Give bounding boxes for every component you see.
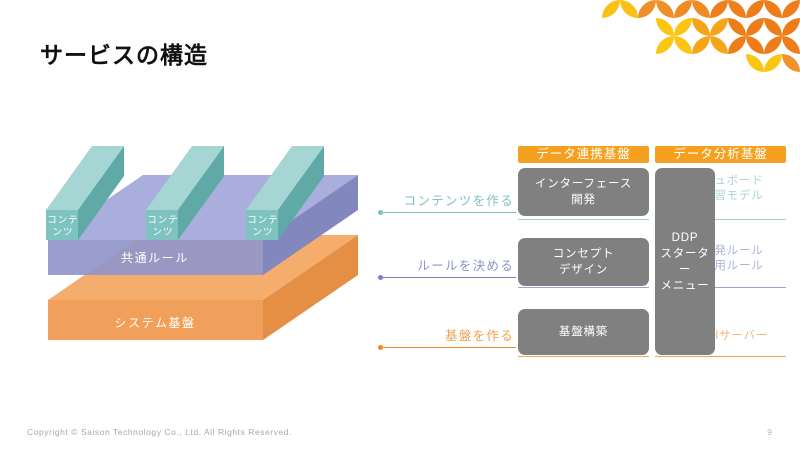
svg-text:ンツ: ンツ <box>52 227 73 238</box>
overlay-card-0-1[interactable]: コンセプト デザイン <box>518 238 649 286</box>
step-rule-0 <box>378 212 516 213</box>
overlay-card-0-0-line-0: インターフェース <box>535 176 632 192</box>
block-label-system-base: システム基盤 <box>114 316 195 330</box>
page-number: 9 <box>767 427 772 437</box>
svg-text:ンツ: ンツ <box>252 227 273 238</box>
step-dot-2 <box>378 345 383 350</box>
bg-rule-1-2 <box>655 356 786 357</box>
overlay-card-1-0-line-0: DDP <box>655 230 715 246</box>
stack-svg: コンテ ンツ コンテ ンツ コンテ ンツ 共通ルール システム基盤 <box>28 140 378 395</box>
column-header-0: データ連携基盤 <box>518 146 649 163</box>
step-dot-1 <box>378 275 383 280</box>
overlay-card-0-0-line-1: 開発 <box>535 192 632 208</box>
step-label-0: コンテンツを作る <box>378 190 516 212</box>
quatrefoil-pattern-decoration <box>560 0 800 72</box>
step-label-2: 基盤を作る <box>378 325 516 347</box>
column-data-integration-platform: データ連携基盤 インターフェース REST API 標準データモデル 基盤利用ル… <box>518 146 649 366</box>
column-body-0: インターフェース REST API 標準データモデル 基盤利用ルール ETL/M… <box>518 166 649 366</box>
overlay-card-0-1-line-0: コンセプト <box>553 246 615 262</box>
slide-canvas: サービスの構造 <box>0 0 800 450</box>
step-label-1: ルールを決める <box>378 255 516 277</box>
overlay-card-1-0[interactable]: DDP スターター メニュー <box>655 168 715 355</box>
overlay-card-1-0-line-1: スターター <box>655 246 715 278</box>
step-connector-decide-rules: ルールを決める <box>378 255 516 278</box>
step-line-2 <box>378 347 516 348</box>
block-label-content-2: コンテ <box>147 215 179 226</box>
step-line-0 <box>378 212 516 213</box>
column-header-1: データ分析基盤 <box>655 146 786 163</box>
column-body-1: ダッシュボード 機械学習モデル 標準開発ルール 基盤利用ルール DWH,BIサー… <box>655 166 786 366</box>
bg-rule-0-1 <box>518 287 649 288</box>
overlay-card-0-2-line-0: 基盤構築 <box>559 324 608 340</box>
step-rule-1 <box>378 277 516 278</box>
block-label-content-3: コンテ <box>247 215 279 226</box>
block-label-content-1: コンテ <box>47 215 79 226</box>
overlay-card-0-0[interactable]: インターフェース 開発 <box>518 168 649 216</box>
step-connector-make-contents: コンテンツを作る <box>378 190 516 213</box>
page-title: サービスの構造 <box>40 36 208 70</box>
bg-rule-0-2 <box>518 356 649 357</box>
step-line-1 <box>378 277 516 278</box>
overlay-card-0-1-line-1: デザイン <box>553 262 615 278</box>
column-data-analytics-platform: データ分析基盤 ダッシュボード 機械学習モデル 標準開発ルール 基盤利用ルール … <box>655 146 786 366</box>
step-connector-build-foundation: 基盤を作る <box>378 325 516 348</box>
svg-text:ンツ: ンツ <box>152 227 173 238</box>
overlay-card-0-2[interactable]: 基盤構築 <box>518 309 649 355</box>
bg-rule-0-0 <box>518 219 649 220</box>
copyright-text: Copyright © Saison Technology Co., Ltd. … <box>27 427 292 437</box>
quatrefoil-svg <box>560 0 800 72</box>
overlay-card-1-0-line-2: メニュー <box>655 278 715 294</box>
step-dot-0 <box>378 210 383 215</box>
step-rule-2 <box>378 347 516 348</box>
block-label-common-rules: 共通ルール <box>121 251 189 265</box>
layered-stack-diagram: コンテ ンツ コンテ ンツ コンテ ンツ 共通ルール システム基盤 <box>28 140 378 395</box>
